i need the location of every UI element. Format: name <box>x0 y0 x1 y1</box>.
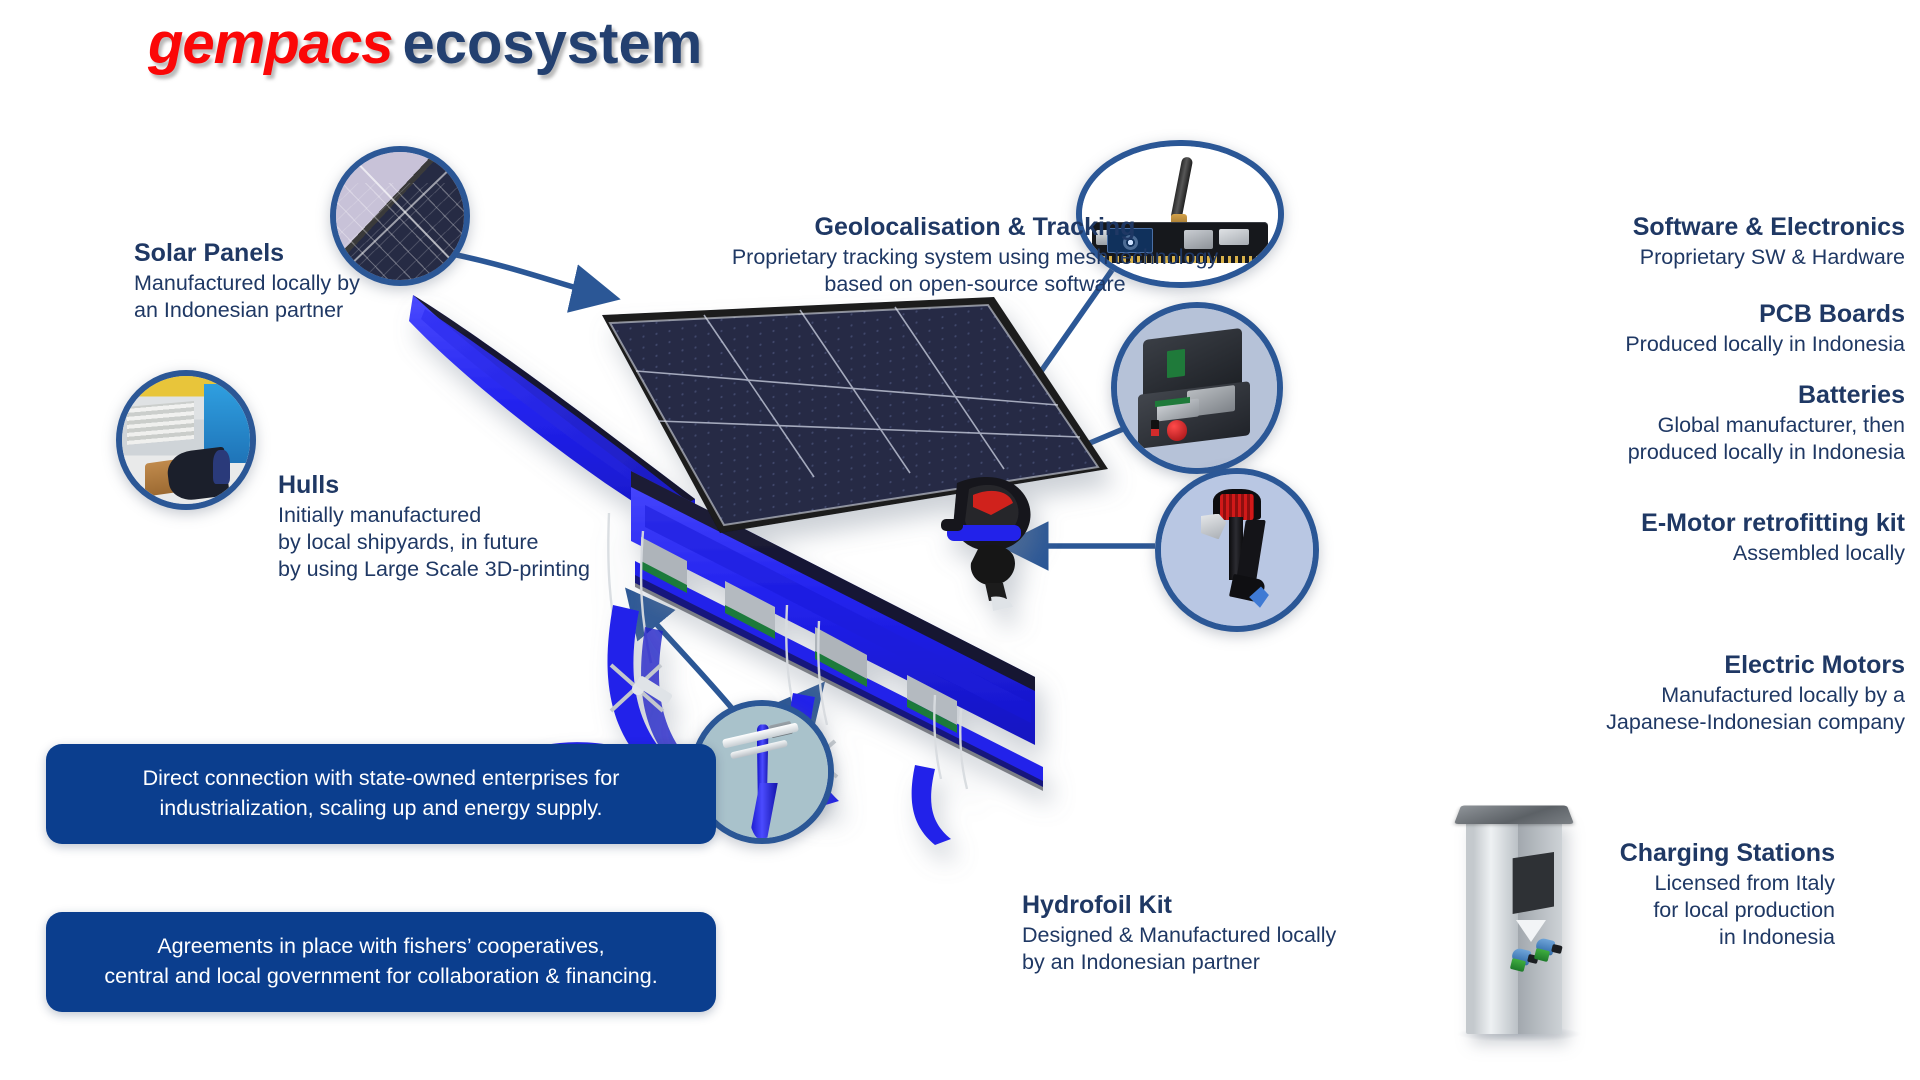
battery-case-circle <box>1111 302 1283 474</box>
hydrofoil-kit-line2: by an Indonesian partner <box>1022 949 1442 976</box>
geolocalisation-line1: Proprietary tracking system using mesh t… <box>710 244 1240 271</box>
hulls-line2: by local shipyards, in future <box>278 529 618 556</box>
callout-pcb-boards: PCB Boards Produced locally in Indonesia <box>1280 299 1905 358</box>
software-electronics-heading: Software & Electronics <box>1280 212 1905 244</box>
infographic-canvas: gempacsecosystem <box>0 0 1920 1080</box>
statement-box-state-enterprises: Direct connection with state-owned enter… <box>46 744 716 844</box>
electric-motors-line2: Japanese-Indonesian company <box>1280 709 1905 736</box>
statement-2-line1: Agreements in place with fishers’ cooper… <box>104 932 657 962</box>
callout-hulls: Hulls Initially manufactured by local sh… <box>278 470 618 583</box>
hulls-line1: Initially manufactured <box>278 502 618 529</box>
callout-electric-motors: Electric Motors Manufactured locally by … <box>1280 650 1905 736</box>
callout-hydrofoil-kit: Hydrofoil Kit Designed & Manufactured lo… <box>1022 890 1442 976</box>
software-electronics-line1: Proprietary SW & Hardware <box>1280 244 1905 271</box>
callout-emotor-kit: E-Motor retrofitting kit Assembled local… <box>1280 508 1905 567</box>
callout-software-electronics: Software & Electronics Proprietary SW & … <box>1280 212 1905 271</box>
batteries-heading: Batteries <box>1280 380 1905 412</box>
batteries-line1: Global manufacturer, then <box>1280 412 1905 439</box>
pcb-boards-line1: Produced locally in Indonesia <box>1280 331 1905 358</box>
callout-solar-panels: Solar Panels Manufactured locally by an … <box>134 238 424 324</box>
hulls-heading: Hulls <box>278 470 618 502</box>
emotor-kit-line1: Assembled locally <box>1280 540 1905 567</box>
hydrofoil-kit-heading: Hydrofoil Kit <box>1022 890 1442 922</box>
electric-outboard-motor <box>941 477 1031 611</box>
batteries-line2: produced locally in Indonesia <box>1280 439 1905 466</box>
charging-stations-heading: Charging Stations <box>1280 838 1835 870</box>
shipyard-icon <box>122 376 250 504</box>
statement-1-line2: industrialization, scaling up and energy… <box>143 794 620 824</box>
shipyard-photo-circle <box>116 370 256 510</box>
hydrofoil-kit-line1: Designed & Manufactured locally <box>1022 922 1442 949</box>
battery-case-icon <box>1117 308 1277 468</box>
statement-2-line2: central and local government for collabo… <box>104 962 657 992</box>
statement-1-line1: Direct connection with state-owned enter… <box>143 764 620 794</box>
hulls-line3: by using Large Scale 3D-printing <box>278 556 618 583</box>
emotor-kit-heading: E-Motor retrofitting kit <box>1280 508 1905 540</box>
statement-box-agreements: Agreements in place with fishers’ cooper… <box>46 912 716 1012</box>
electric-motors-line1: Manufactured locally by a <box>1280 682 1905 709</box>
callout-geolocalisation: Geolocalisation & Tracking Proprietary t… <box>710 212 1240 298</box>
callout-batteries: Batteries Global manufacturer, then prod… <box>1280 380 1905 466</box>
solar-panels-line1: Manufactured locally by <box>134 270 424 297</box>
solar-panels-heading: Solar Panels <box>134 238 424 270</box>
geolocalisation-line2: based on open-source software <box>710 271 1240 298</box>
solar-panels-line2: an Indonesian partner <box>134 297 424 324</box>
geolocalisation-heading: Geolocalisation & Tracking <box>710 212 1240 244</box>
pcb-boards-heading: PCB Boards <box>1280 299 1905 331</box>
electric-motors-heading: Electric Motors <box>1280 650 1905 682</box>
